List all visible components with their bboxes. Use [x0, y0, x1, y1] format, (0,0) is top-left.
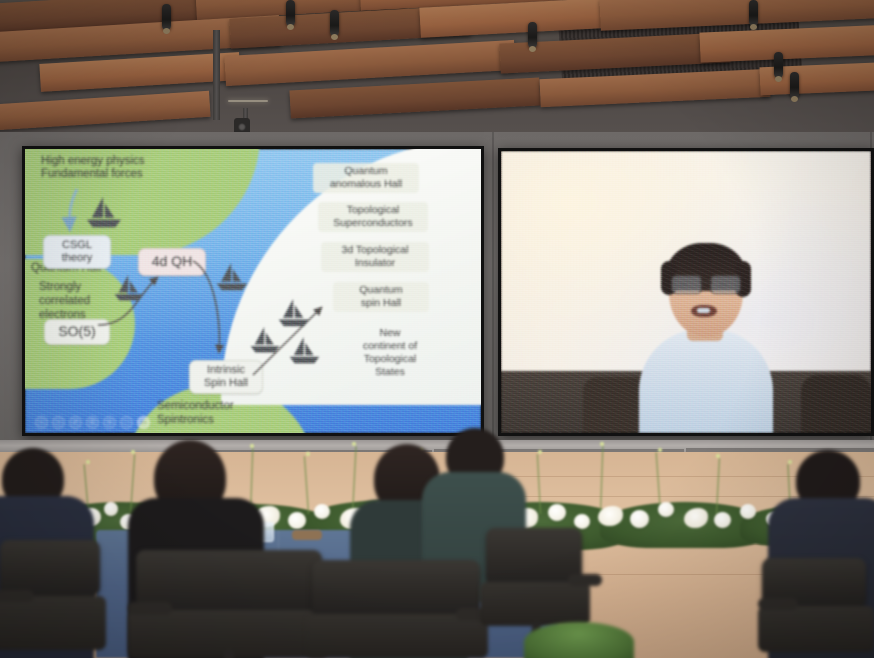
flower-stem	[304, 456, 309, 514]
participant-glasses	[669, 275, 743, 293]
chair-armrest	[568, 574, 602, 586]
chair-armrest	[0, 590, 34, 602]
white-bloom	[740, 504, 756, 519]
ceiling-spotlight	[286, 0, 295, 26]
white-bloom	[548, 504, 566, 521]
glasses-lens-right	[710, 275, 741, 294]
wooden-slat-ceiling	[0, 0, 874, 150]
glasses-lens-left	[671, 275, 702, 294]
ceiling-spotlight	[330, 10, 339, 36]
conference-chair	[0, 540, 114, 658]
ceiling-strip-light	[228, 100, 268, 102]
chair-armrest	[128, 602, 172, 615]
video-call-surface[interactable]	[501, 151, 871, 433]
sailboat-icon	[113, 273, 145, 304]
sailboat-icon	[288, 335, 321, 367]
wall-seam	[492, 132, 494, 462]
chair-seat	[758, 606, 874, 652]
flower-bud	[658, 448, 662, 452]
flower-stem	[600, 446, 604, 514]
remote-participant	[631, 253, 781, 433]
sailboat-icon	[215, 261, 249, 294]
presenter-toolbar[interactable]: ‹ › ✐ ☰ ⚲ ▭	[35, 416, 150, 429]
white-bloom	[288, 512, 306, 529]
slide-canvas: High energy physics Fundamental forces Q…	[25, 149, 481, 433]
glasses-bridge	[700, 281, 712, 283]
flower-bud	[716, 454, 720, 458]
chair-seat	[0, 596, 106, 650]
slide-arrows	[25, 149, 481, 433]
video-feed	[501, 151, 871, 433]
ceiling-camera-pole	[213, 30, 220, 120]
flower-bud	[538, 450, 542, 454]
conference-chair	[758, 558, 874, 658]
white-bloom	[574, 514, 590, 529]
ceiling-spotlight	[774, 52, 783, 78]
chair-backrest	[312, 560, 480, 616]
foreground-plant	[524, 622, 634, 658]
white-bloom	[314, 504, 330, 519]
flower-bud	[600, 442, 604, 446]
chair-leg	[224, 650, 234, 658]
presentation-screen[interactable]: High energy physics Fundamental forces Q…	[22, 146, 484, 436]
conference-chair	[306, 560, 506, 658]
ceiling-spotlight	[749, 0, 758, 26]
tabletop-item	[292, 530, 322, 540]
presenter-prev-button[interactable]: ‹	[35, 416, 48, 429]
video-call-screen[interactable]	[498, 148, 874, 436]
chair-backrest	[0, 540, 100, 596]
white-bloom	[714, 512, 731, 528]
sailboat-icon	[85, 195, 123, 231]
white-bloom	[658, 502, 674, 517]
sailboat-icon	[249, 325, 281, 356]
white-bloom	[104, 502, 118, 516]
ceiling-spotlight	[790, 72, 799, 98]
participant-shirt	[639, 329, 773, 433]
white-bloom	[630, 510, 649, 528]
chair-seat	[480, 582, 590, 626]
flower-bud	[306, 452, 310, 456]
presenter-menu-button[interactable]: ☰	[86, 416, 99, 429]
conference-hall-photo: High energy physics Fundamental forces Q…	[0, 0, 874, 658]
presenter-monitor-button[interactable]: ▭	[137, 416, 150, 429]
presenter-pen-button[interactable]: ✐	[69, 416, 82, 429]
chair-armrest	[758, 598, 798, 610]
participant-mouth	[691, 305, 717, 317]
presenter-next-button[interactable]: ›	[52, 416, 65, 429]
presentation-screen-surface[interactable]: High energy physics Fundamental forces Q…	[25, 149, 481, 433]
ceiling-spotlight	[528, 22, 537, 48]
ceiling-spotlight	[162, 4, 171, 30]
sailboat-icon	[277, 297, 311, 330]
presenter-blank-button[interactable]	[120, 416, 133, 429]
sofa-cushion-right	[801, 375, 871, 433]
presenter-zoom-button[interactable]: ⚲	[103, 416, 116, 429]
